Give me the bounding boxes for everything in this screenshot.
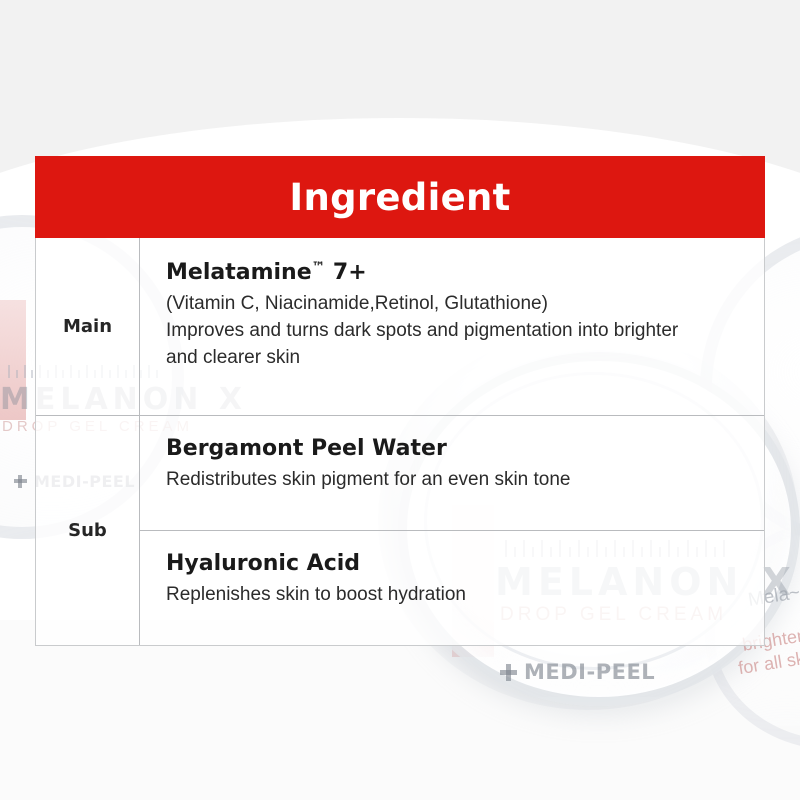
ingredient-description-melatamine-line-2: and clearer skin [166,345,738,372]
table-row-main: Main Melatamine™ 7+ (Vitamin C, Niacinam… [36,238,764,415]
ingredient-title-hyaluronic: Hyaluronic Acid [166,549,738,578]
ingredient-card-header: Ingredient [35,156,765,238]
medi-peel-brand-text: MEDI-PEEL [524,660,655,684]
ingredient-title-melatamine-text: Melatamine [166,260,312,285]
ingredient-subtitle-melatamine: (Vitamin C, Niacinamide,Retinol, Glutath… [166,291,738,318]
trademark-symbol: ™ [312,260,326,276]
ingredient-table: Main Melatamine™ 7+ (Vitamin C, Niacinam… [35,238,765,646]
ingredient-description-hyaluronic: Replenishes skin to boost hydration [166,582,738,609]
medi-peel-cross-icon [500,664,517,681]
ingredient-title-melatamine-suffix: 7+ [325,260,366,285]
row-label-cell-sub: Sub [36,416,140,645]
ingredient-card: Ingredient Main Melatamine™ 7+ (Vitamin … [35,156,765,646]
ingredient-description-melatamine-line-1: Improves and turns dark spots and pigmen… [166,318,738,345]
table-row-bergamont: Bergamont Peel Water Redistributes skin … [140,416,764,530]
ingredient-description-bergamont: Redistributes skin pigment for an even s… [166,467,738,494]
medi-peel-cross-icon-left [14,475,27,488]
ingredient-title-melatamine: Melatamine™ 7+ [166,258,738,287]
medi-peel-brandmark: MEDI-PEEL [500,660,655,684]
row-label-sub: Sub [68,520,107,541]
row-label-cell-main: Main [36,238,140,415]
row-content-main: Melatamine™ 7+ (Vitamin C, Niacinamide,R… [140,238,764,415]
table-row-sub: Sub Bergamont Peel Water Redistributes s… [36,415,764,645]
table-row-hyaluronic: Hyaluronic Acid Replenishes skin to boos… [140,530,764,645]
page-canvas: MELANON X DROP GEL CREAM MEDI-PEEL MELAN… [0,0,800,800]
page-title: Ingredient [289,179,510,216]
sub-item-stack: Bergamont Peel Water Redistributes skin … [140,416,764,645]
row-label-main: Main [63,316,112,337]
ingredient-title-bergamont: Bergamont Peel Water [166,434,738,463]
